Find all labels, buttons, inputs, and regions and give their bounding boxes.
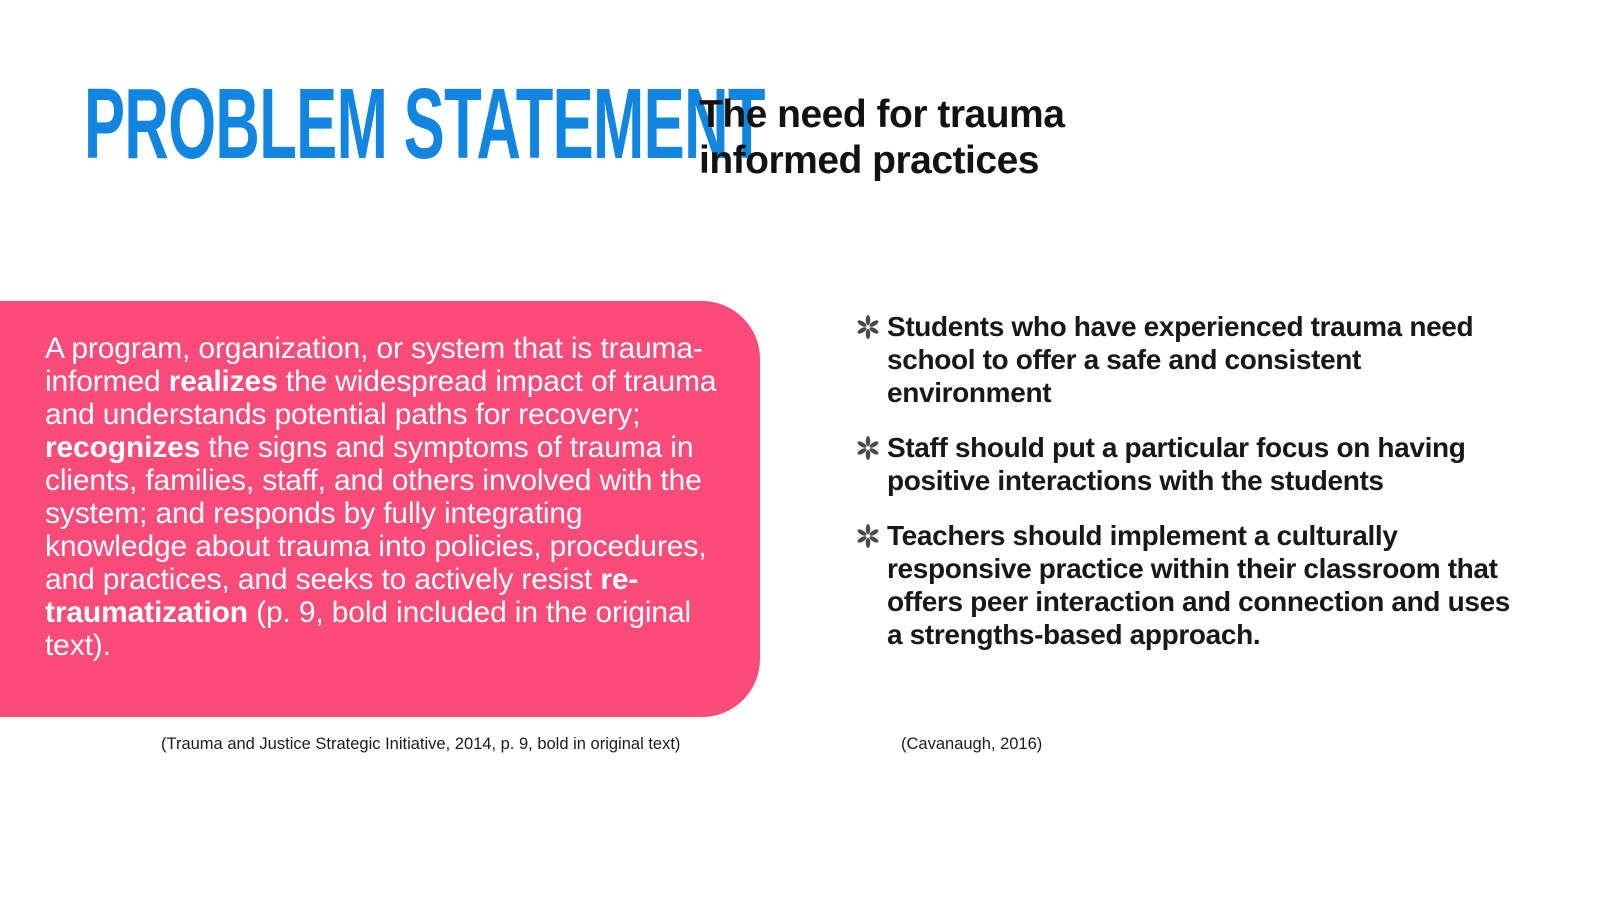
- list-item: Teachers should implement a culturally r…: [855, 519, 1515, 651]
- bullets-citation: (Cavanaugh, 2016): [901, 734, 1042, 754]
- list-item-label: Students who have experienced trauma nee…: [887, 310, 1515, 409]
- list-item-label: Teachers should implement a culturally r…: [887, 519, 1515, 651]
- asterisk-icon: [855, 310, 887, 340]
- bullet-list: Students who have experienced trauma nee…: [855, 310, 1515, 651]
- slide-canvas: PROBLEM STATEMENT The need for trauma in…: [0, 0, 1600, 900]
- quote-card: A program, organization, or system that …: [0, 301, 760, 717]
- asterisk-icon: [855, 519, 887, 549]
- quote-text: A program, organization, or system that …: [45, 332, 725, 662]
- asterisk-icon: [855, 431, 887, 461]
- list-item-label: Staff should put a particular focus on h…: [887, 431, 1515, 497]
- page-subtitle: The need for trauma informed practices: [699, 92, 1129, 184]
- list-item: Students who have experienced trauma nee…: [855, 310, 1515, 409]
- quote-citation: (Trauma and Justice Strategic Initiative…: [161, 734, 680, 754]
- page-title: PROBLEM STATEMENT: [84, 74, 765, 174]
- list-item: Staff should put a particular focus on h…: [855, 431, 1515, 497]
